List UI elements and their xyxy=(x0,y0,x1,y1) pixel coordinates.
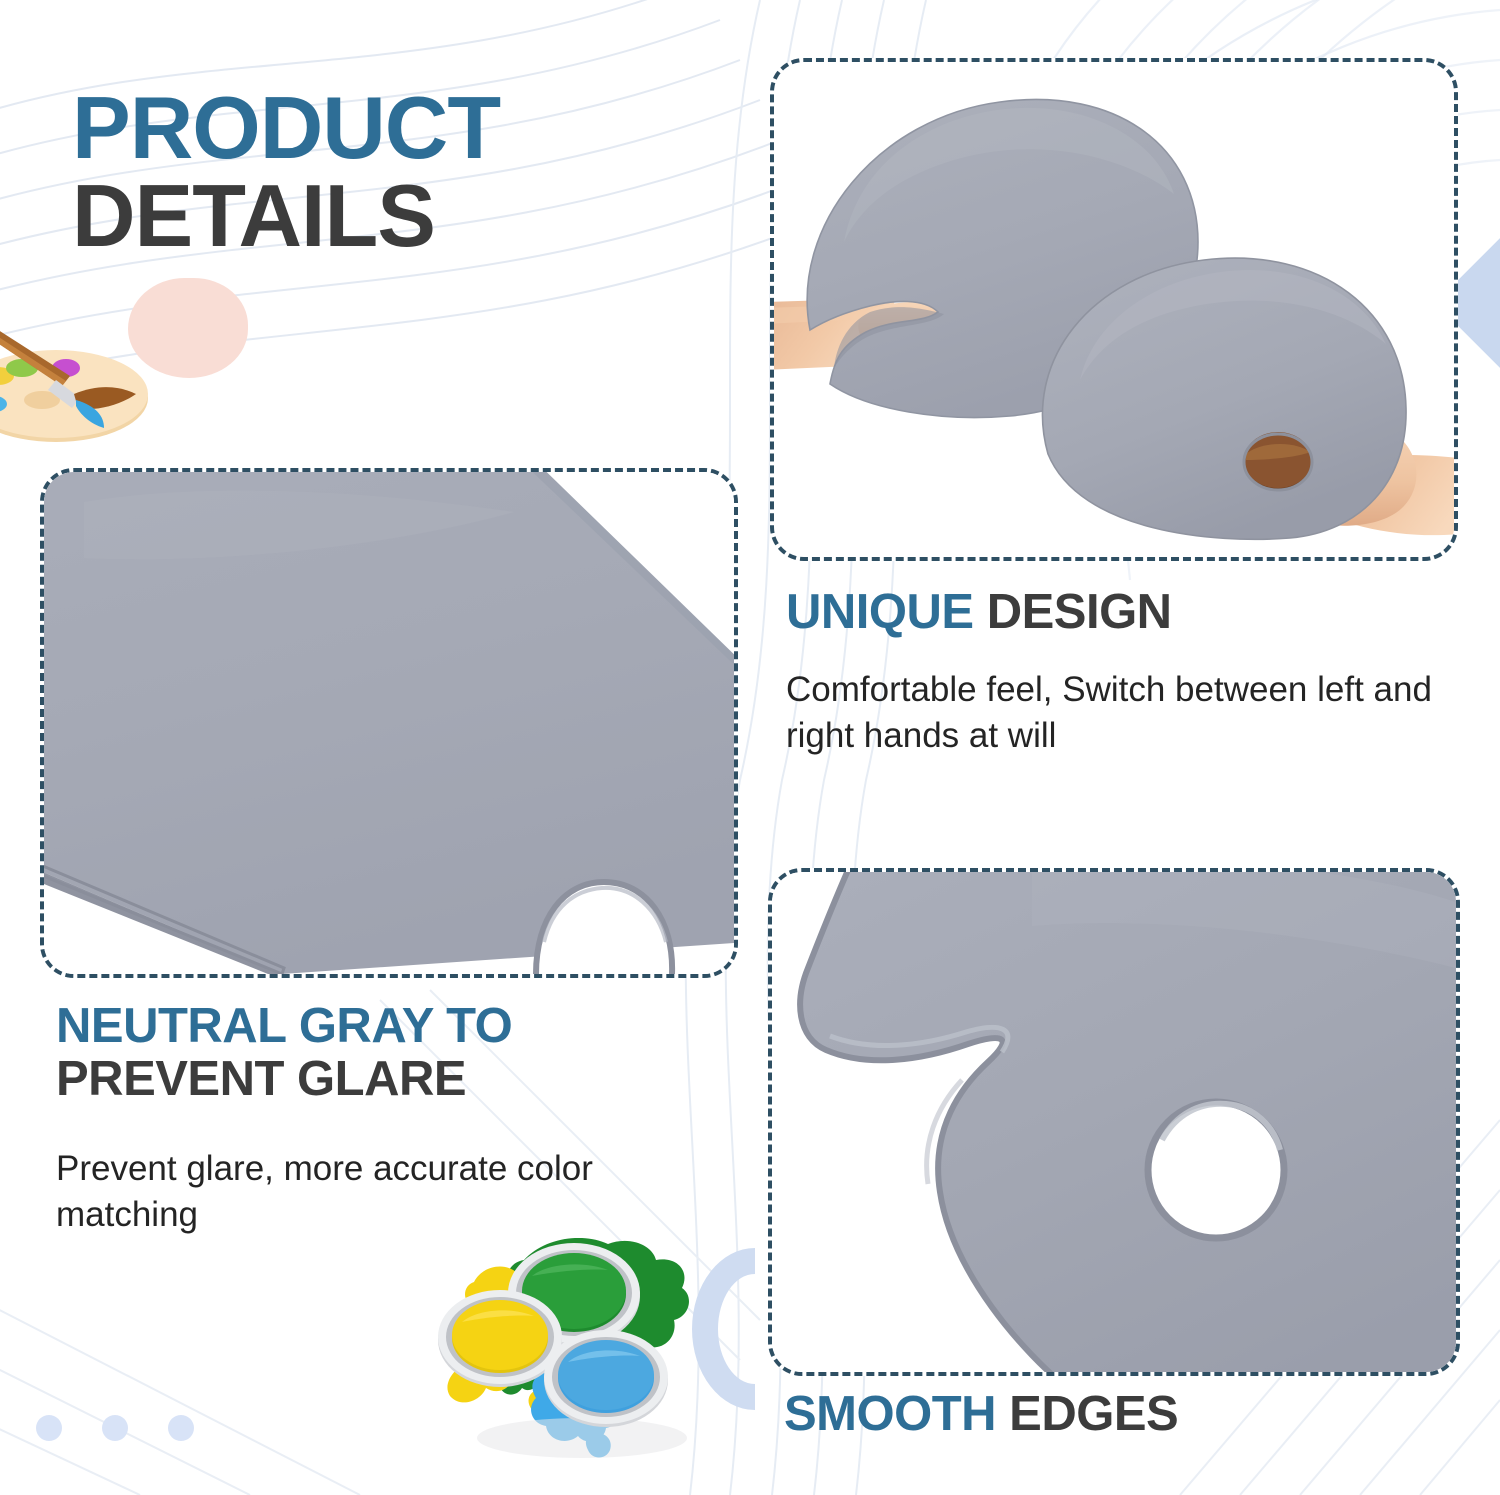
infographic-canvas: PRODUCT DETAILS xyxy=(0,0,1500,1495)
heading-neutral-gray-accent: NEUTRAL GRAY TO xyxy=(56,1000,736,1053)
body-unique-design: Comfortable feel, Switch between left an… xyxy=(786,667,1458,759)
heading-smooth-edges-rest: EDGES xyxy=(1009,1387,1178,1441)
page-title-line-2: DETAILS xyxy=(72,174,500,258)
heading-unique-design-rest: DESIGN xyxy=(987,585,1172,639)
image-two-palettes-hands xyxy=(774,62,1454,557)
page-title-line-1: PRODUCT xyxy=(72,86,500,170)
dot-2 xyxy=(102,1415,128,1441)
dot-1 xyxy=(36,1415,62,1441)
image-palette-notch-closeup xyxy=(772,872,1456,1372)
image-gray-surface-closeup xyxy=(44,472,734,974)
heading-neutral-gray-rest: PREVENT GLARE xyxy=(56,1053,736,1106)
panel-unique-design xyxy=(770,58,1458,561)
artist-palette-brush-icon xyxy=(0,288,224,448)
body-neutral-gray: Prevent glare, more accurate color match… xyxy=(56,1146,656,1238)
paint-cans-splash-icon xyxy=(432,1238,694,1464)
panel-smooth-edges xyxy=(768,868,1460,1376)
page-title: PRODUCT DETAILS xyxy=(72,86,500,257)
heading-smooth-edges: SMOOTH EDGES xyxy=(784,1388,1464,1441)
panel-neutral-gray xyxy=(40,468,738,978)
heading-smooth-edges-accent: SMOOTH xyxy=(784,1387,996,1441)
heading-neutral-gray: NEUTRAL GRAY TO PREVENT GLARE Prevent gl… xyxy=(56,1000,736,1238)
heading-unique-design-accent: UNIQUE xyxy=(786,585,974,639)
decorative-dots xyxy=(36,1415,194,1441)
heading-unique-design: UNIQUE DESIGN Comfortable feel, Switch b… xyxy=(786,586,1466,759)
dot-3 xyxy=(168,1415,194,1441)
